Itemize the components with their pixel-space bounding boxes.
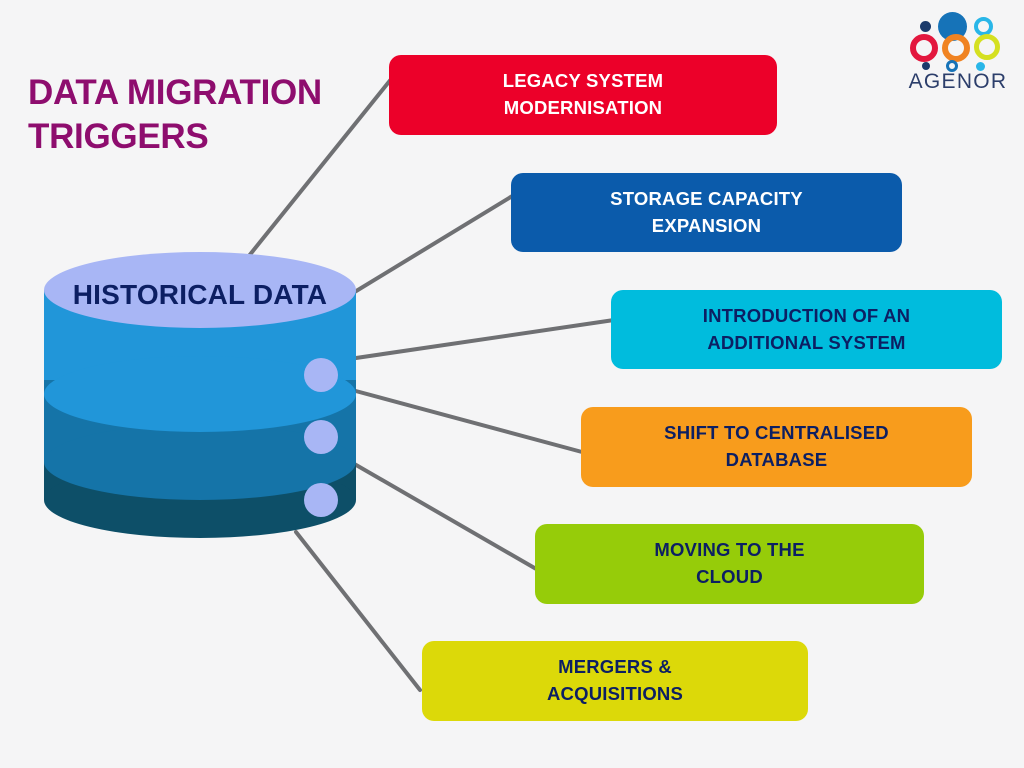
trigger-box-storage-capacity-expansion[interactable]: STORAGE CAPACITY EXPANSION [511,173,902,252]
lime-ring-right-icon [974,34,1000,60]
trigger-box-moving-to-the-cloud[interactable]: MOVING TO THE CLOUD [535,524,924,604]
trigger-box-label: INTRODUCTION OF AN ADDITIONAL SYSTEM [703,303,910,357]
small-navy-dot-top-left-icon [920,21,931,32]
cylinder-indicator-dot-3 [304,483,338,517]
trigger-box-label: MERGERS & ACQUISITIONS [547,654,683,708]
page-title: DATA MIGRATION TRIGGERS [28,71,358,158]
cylinder-label: HISTORICAL DATA [44,278,356,312]
trigger-box-shift-to-centralised-database[interactable]: SHIFT TO CENTRALISED DATABASE [581,407,972,487]
connector-to-introduction [356,320,614,358]
connector-to-mergers [296,532,420,690]
orange-ring-center-icon [942,34,970,62]
agenor-logo-mark-icon [900,8,1016,70]
trigger-box-label: SHIFT TO CENTRALISED DATABASE [664,420,889,474]
trigger-box-label: LEGACY SYSTEM MODERNISATION [503,68,664,122]
connector-to-storage-capacity [348,195,514,296]
cylinder-indicator-dot-2 [304,420,338,454]
infographic-canvas: DATA MIGRATION TRIGGERS AGENOR HISTORICA… [0,0,1024,768]
trigger-box-introduction-of-an-additional-system[interactable]: INTRODUCTION OF AN ADDITIONAL SYSTEM [611,290,1002,369]
red-ring-left-icon [910,34,938,62]
cylinder-indicator-dot-1 [304,358,338,392]
connector-to-shift-database [352,390,582,452]
trigger-box-mergers-and-acquisitions[interactable]: MERGERS & ACQUISITIONS [422,641,808,721]
agenor-logo: AGENOR [900,8,1016,104]
trigger-box-label: MOVING TO THE CLOUD [654,537,804,591]
agenor-wordmark: AGENOR [900,70,1016,94]
historical-data-cylinder: HISTORICAL DATA [44,252,356,530]
small-navy-dot-bottom-icon [922,62,930,70]
cyan-ring-top-right-icon [974,17,993,36]
trigger-box-legacy-system-modernisation[interactable]: LEGACY SYSTEM MODERNISATION [389,55,777,135]
trigger-box-label: STORAGE CAPACITY EXPANSION [610,186,803,240]
connector-to-moving-cloud [344,458,538,570]
